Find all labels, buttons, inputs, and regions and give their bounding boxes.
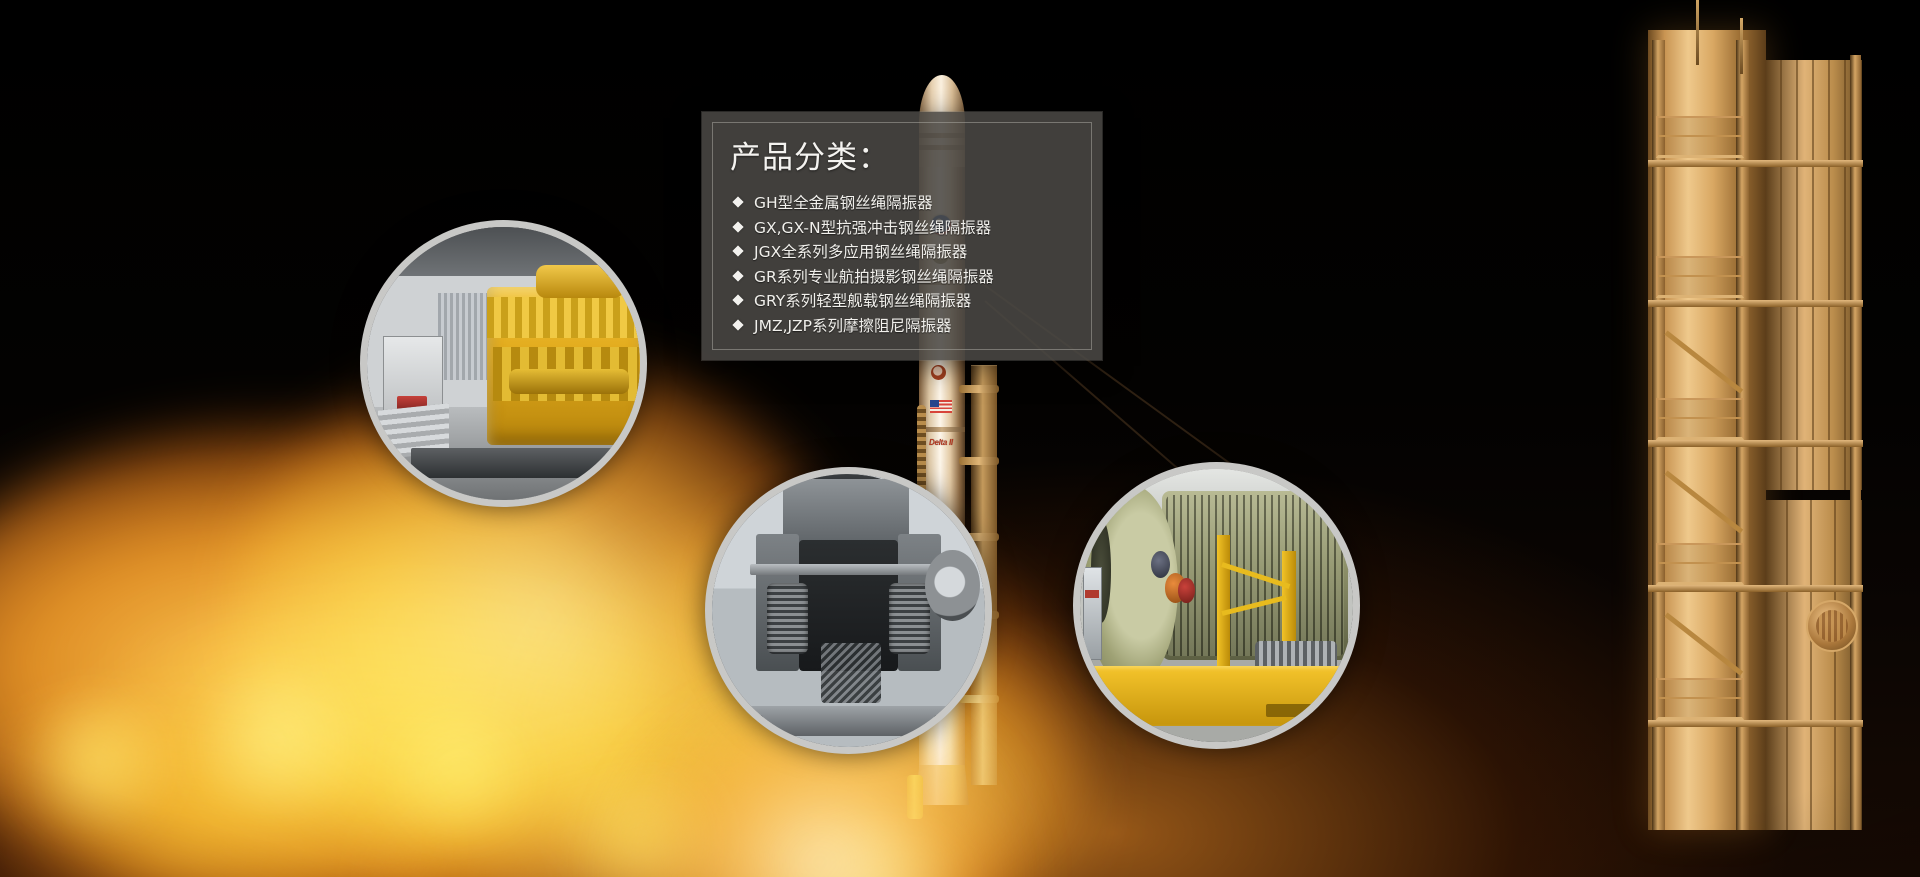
product-category-item[interactable]: GH型全金属钢丝绳隔振器	[734, 190, 1084, 215]
product-category-item[interactable]: JGX全系列多应用钢丝绳隔振器	[734, 239, 1084, 264]
diamond-bullet-icon	[732, 270, 743, 281]
product-circle-diesel-generator[interactable]	[360, 220, 647, 507]
product-category-label: GH型全金属钢丝绳隔振器	[754, 191, 933, 213]
tower-railing	[1656, 678, 1744, 720]
diamond-bullet-icon	[732, 197, 743, 208]
jet-engine-photo	[1080, 469, 1353, 742]
tower-railing	[1656, 543, 1744, 585]
diamond-bullet-icon	[732, 319, 743, 330]
tower-cladding-panel	[1766, 60, 1862, 490]
product-category-item[interactable]: GRY系列轻型舰载钢丝绳隔振器	[734, 288, 1084, 313]
product-category-panel: 产品分类： GH型全金属钢丝绳隔振器GX,GX-N型抗强冲击钢丝绳隔振器JGX全…	[702, 112, 1102, 360]
product-category-label: GR系列专业航拍摄影钢丝绳隔振器	[754, 265, 994, 287]
wire-rope-isolator-photo	[712, 474, 985, 747]
diesel-generator-photo	[367, 227, 640, 500]
product-circle-wire-rope-isolator[interactable]	[705, 467, 992, 754]
tower-cladding-panel-lower	[1766, 500, 1862, 830]
tower-emblem	[1806, 600, 1858, 652]
product-category-item[interactable]: GR系列专业航拍摄影钢丝绳隔振器	[734, 264, 1084, 289]
product-circle-jet-engine[interactable]	[1073, 462, 1360, 749]
tower-railing	[1656, 398, 1744, 440]
product-category-list: GH型全金属钢丝绳隔振器GX,GX-N型抗强冲击钢丝绳隔振器JGX全系列多应用钢…	[734, 190, 1084, 337]
launch-tower	[1420, 0, 1920, 877]
product-category-item[interactable]: GX,GX-N型抗强冲击钢丝绳隔振器	[734, 215, 1084, 240]
product-category-item[interactable]: JMZ,JZP系列摩擦阻尼隔振器	[734, 313, 1084, 338]
tower-railing	[1656, 256, 1744, 298]
product-category-label: GX,GX-N型抗强冲击钢丝绳隔振器	[754, 216, 991, 238]
diamond-bullet-icon	[732, 221, 743, 232]
diamond-bullet-icon	[732, 295, 743, 306]
panel-title: 产品分类：	[730, 132, 890, 177]
product-category-label: JGX全系列多应用钢丝绳隔振器	[754, 240, 967, 262]
tower-railing	[1656, 116, 1744, 158]
product-category-label: JMZ,JZP系列摩擦阻尼隔振器	[754, 314, 952, 336]
diamond-bullet-icon	[732, 246, 743, 257]
banner-stage: Delta II	[0, 0, 1920, 877]
product-category-label: GRY系列轻型舰载钢丝绳隔振器	[754, 289, 971, 311]
